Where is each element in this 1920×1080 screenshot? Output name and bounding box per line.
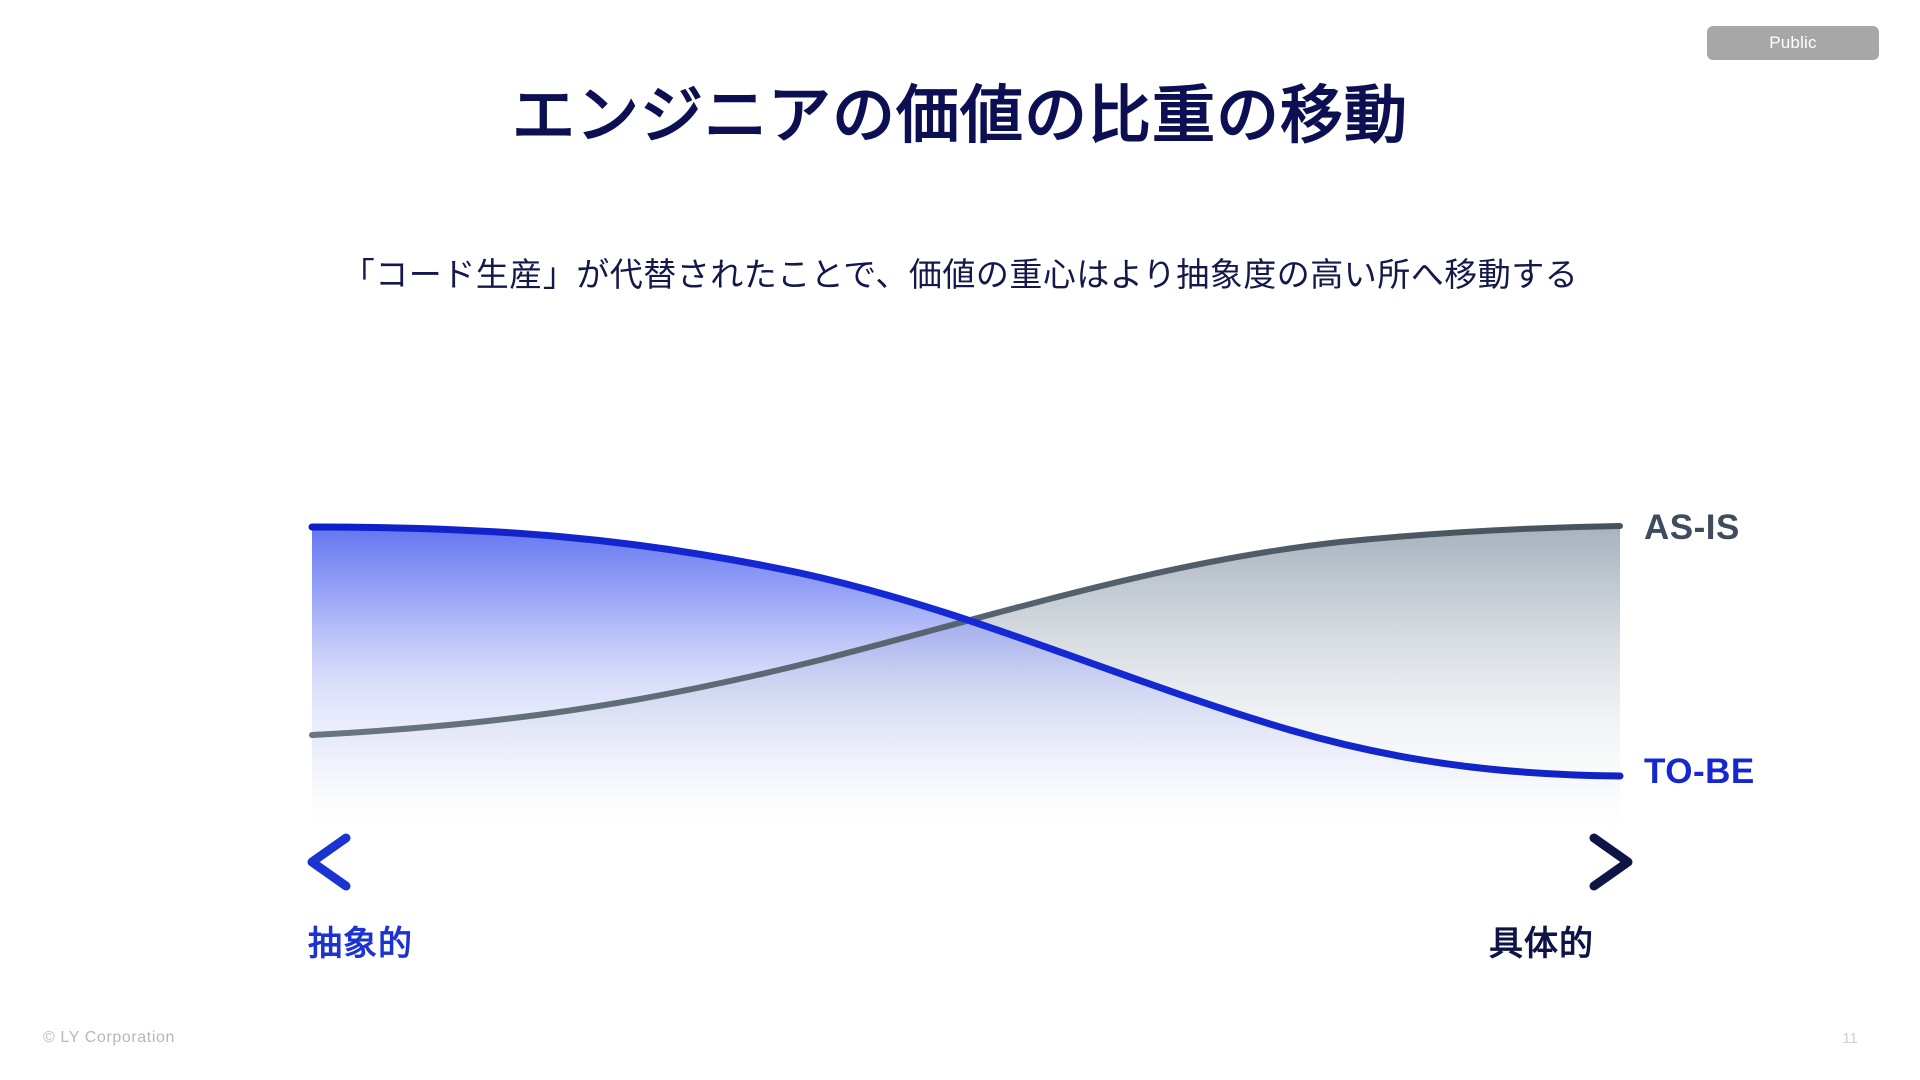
chart-svg <box>300 500 1640 860</box>
axis-label-abstract: 抽象的 <box>308 916 413 965</box>
footer-copyright: © LY Corporation <box>43 1029 175 1047</box>
axis-label-concrete: 具体的 <box>1489 916 1594 965</box>
series-label-as-is: AS-IS <box>1644 508 1740 548</box>
axis-arrow-svg <box>300 826 1640 898</box>
page-number: 11 <box>1830 1030 1870 1047</box>
subtitle-text: 「コード生産」が代替されたことで、価値の重心はより抽象度の高い所へ移動する <box>0 253 1920 298</box>
series-label-to-be: TO-BE <box>1644 752 1755 792</box>
value-shift-chart <box>300 500 1640 860</box>
public-badge: Public <box>1707 26 1879 60</box>
page-title: エンジニアの価値の比重の移動 <box>0 82 1920 151</box>
axis-arrow <box>300 826 1640 898</box>
